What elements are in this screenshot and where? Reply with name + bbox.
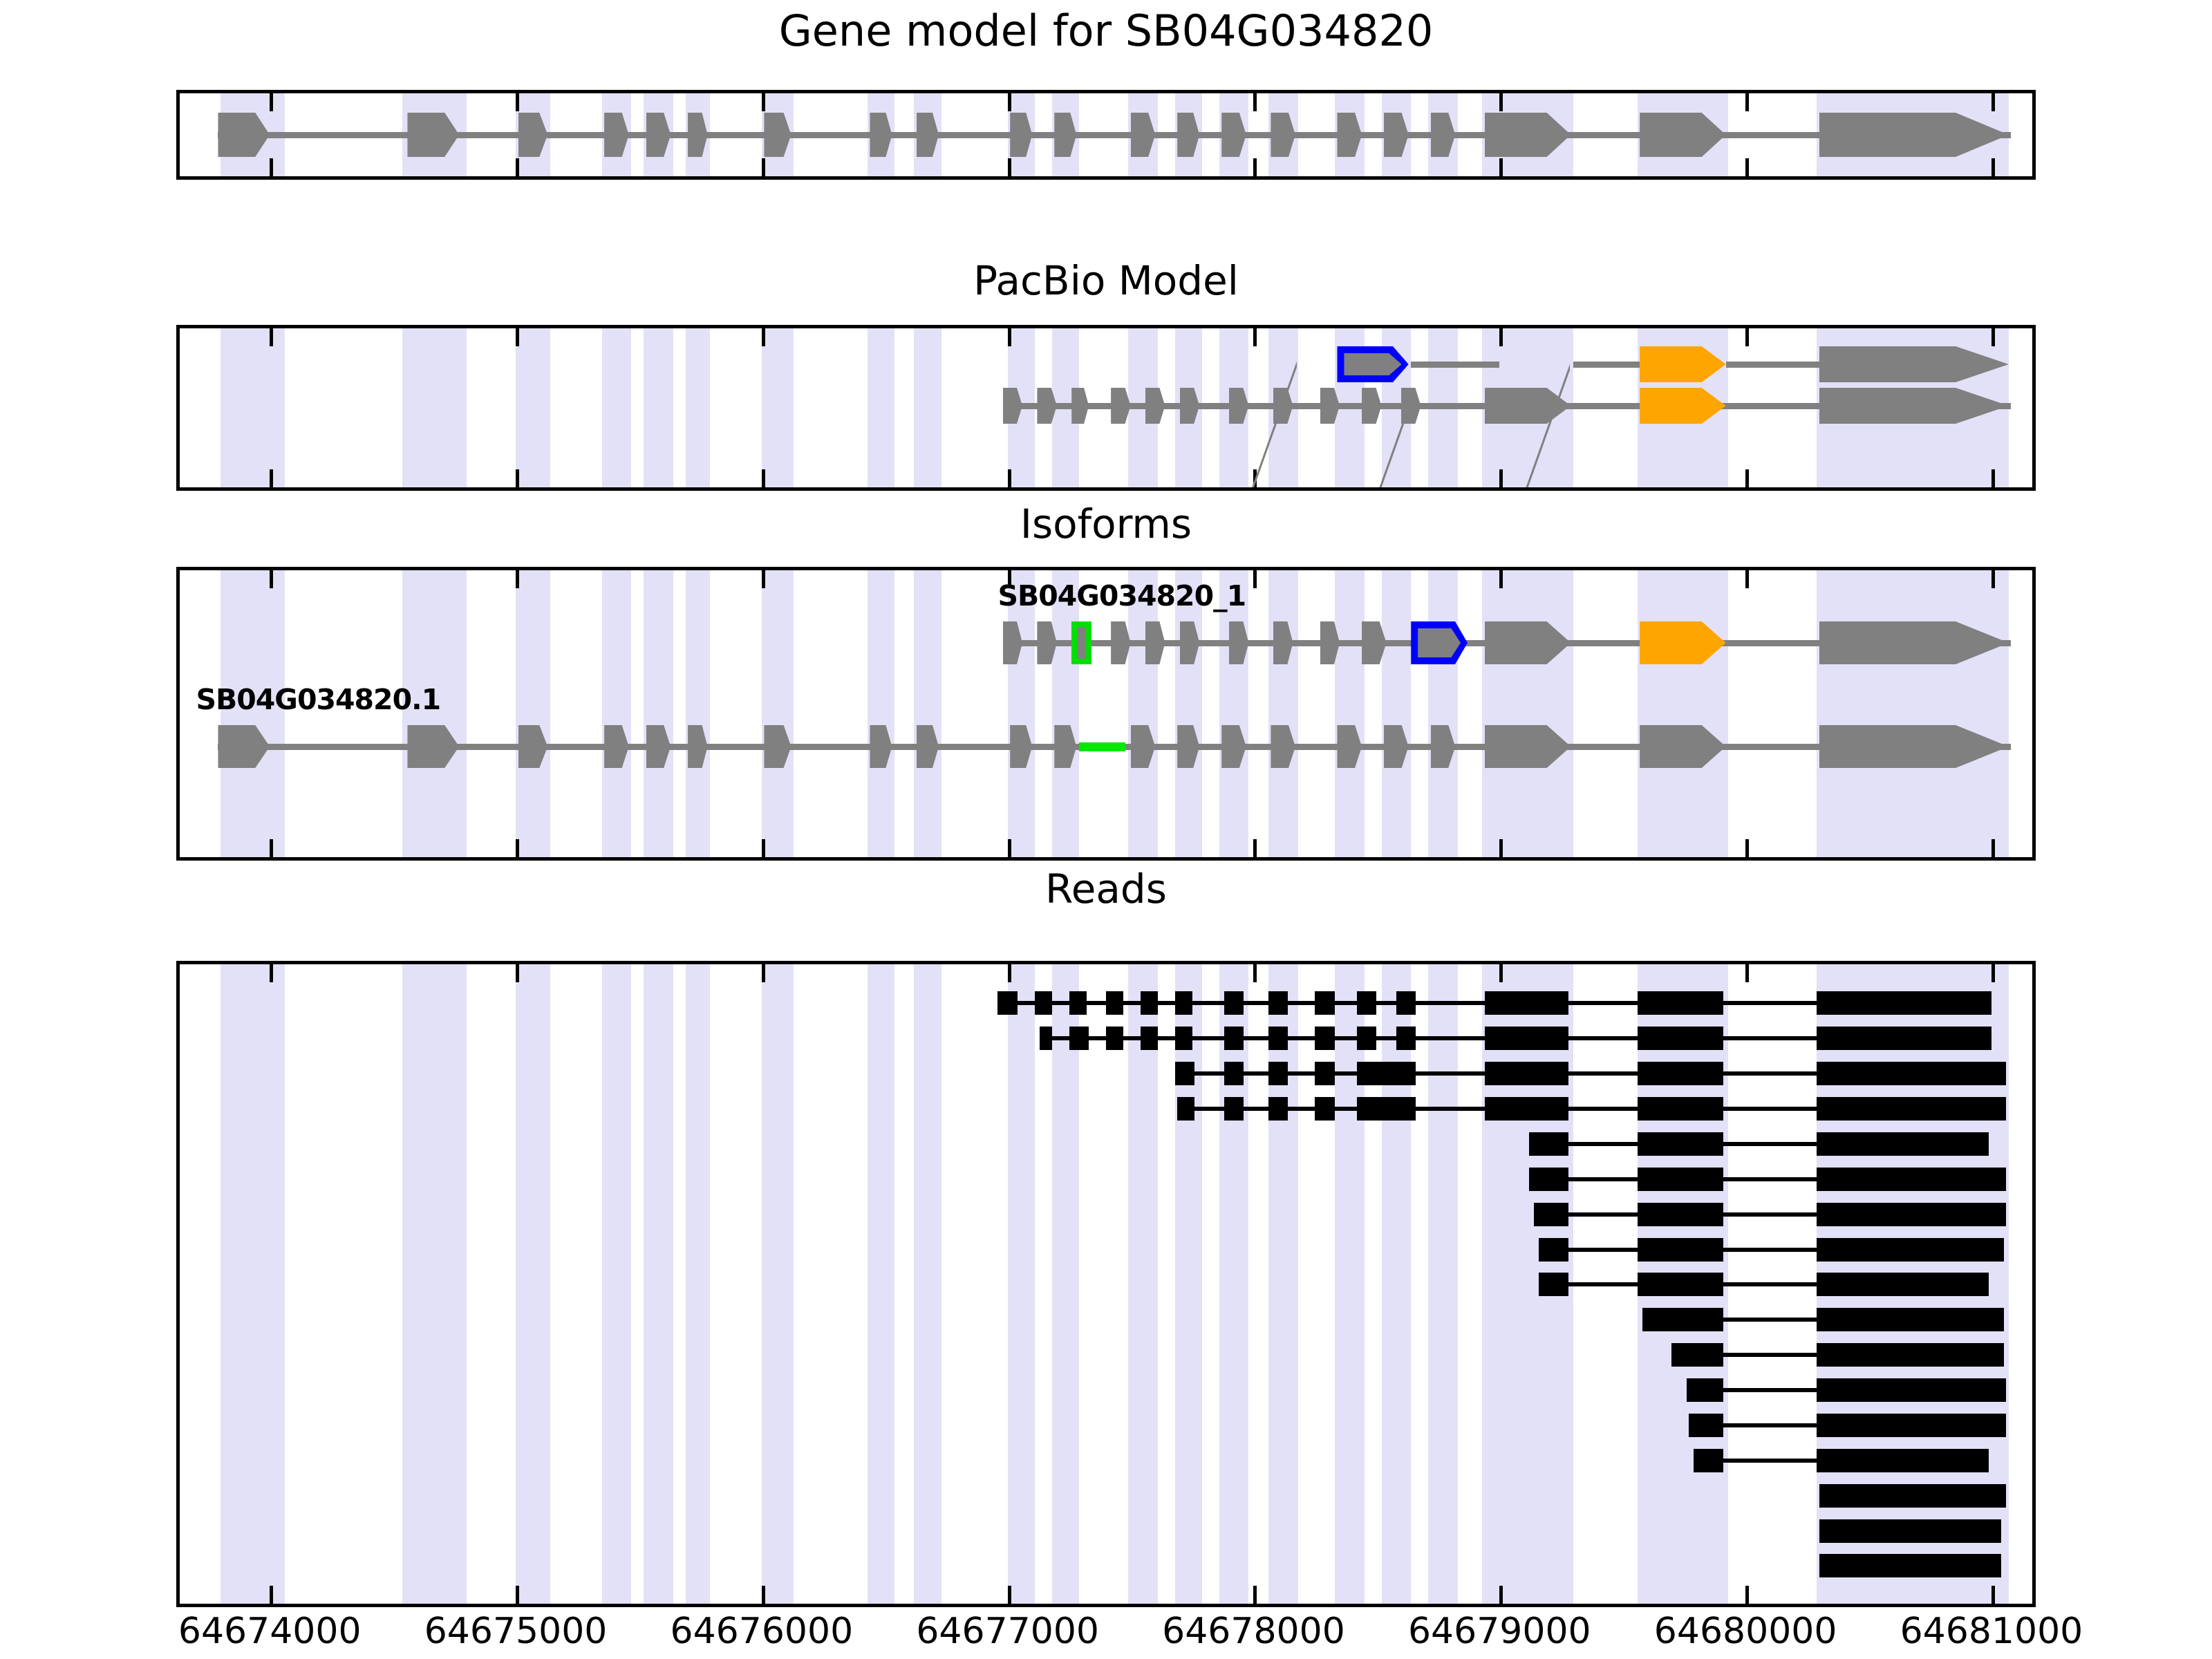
read-block[interactable] bbox=[1357, 1062, 1416, 1085]
axis-tick bbox=[270, 93, 273, 111]
highlight-band bbox=[644, 964, 673, 1604]
read-block[interactable] bbox=[1694, 1449, 1723, 1472]
axis-tick bbox=[1008, 839, 1011, 857]
axis-tick bbox=[1991, 1586, 1995, 1604]
x-tick-label: 64677000 bbox=[870, 1611, 1146, 1652]
read-block[interactable] bbox=[1106, 991, 1123, 1015]
axis-tick bbox=[1745, 93, 1749, 111]
read-block[interactable] bbox=[1638, 991, 1724, 1015]
read-block[interactable] bbox=[1638, 1273, 1724, 1296]
read-block[interactable] bbox=[1315, 1062, 1334, 1085]
highlight-band bbox=[1128, 570, 1158, 857]
read-block[interactable] bbox=[1141, 1027, 1158, 1050]
read-block[interactable] bbox=[1671, 1343, 1723, 1367]
x-tick-label: 64679000 bbox=[1361, 1611, 1638, 1652]
read-block[interactable] bbox=[1638, 1097, 1724, 1121]
x-tick-label: 64675000 bbox=[377, 1611, 654, 1652]
highlight-band bbox=[686, 964, 711, 1604]
axis-tick bbox=[762, 328, 765, 346]
highlight-band bbox=[644, 570, 673, 857]
axis-tick bbox=[1745, 570, 1749, 588]
axis-tick bbox=[1991, 93, 1995, 111]
highlight-band bbox=[914, 964, 941, 1604]
read-block[interactable] bbox=[1817, 1027, 1991, 1050]
axis-tick bbox=[1991, 158, 1995, 176]
axis-tick bbox=[762, 93, 765, 111]
read-block[interactable] bbox=[1485, 1097, 1568, 1121]
highlight-band bbox=[1128, 964, 1158, 1604]
highlight-band bbox=[762, 964, 794, 1604]
highlight-band bbox=[1382, 964, 1412, 1604]
axis-tick bbox=[1499, 570, 1503, 588]
read-block[interactable] bbox=[1224, 1062, 1244, 1085]
highlight-band bbox=[1008, 964, 1035, 1604]
read-block[interactable] bbox=[1315, 991, 1334, 1015]
highlight-band bbox=[1428, 964, 1458, 1604]
axis-tick bbox=[762, 964, 765, 982]
axis-tick bbox=[516, 328, 519, 346]
axis-tick bbox=[270, 839, 273, 857]
read-block[interactable] bbox=[1177, 1097, 1194, 1121]
highlight-band bbox=[686, 570, 711, 857]
highlight-band bbox=[1219, 570, 1249, 857]
read-block[interactable] bbox=[1638, 1062, 1724, 1085]
axis-tick bbox=[1745, 469, 1749, 487]
read-block[interactable] bbox=[1175, 1027, 1192, 1050]
read-block[interactable] bbox=[1224, 1097, 1244, 1121]
read-block[interactable] bbox=[1357, 1027, 1376, 1050]
read-block[interactable] bbox=[1069, 991, 1087, 1015]
highlight-band bbox=[1428, 570, 1458, 857]
axis-tick bbox=[1008, 328, 1011, 346]
read-block[interactable] bbox=[1817, 1097, 2006, 1121]
x-tick-label: 64681000 bbox=[1853, 1611, 2130, 1652]
axis-tick bbox=[270, 1586, 273, 1604]
highlight-band bbox=[762, 570, 794, 857]
highlight-band bbox=[1638, 570, 1729, 857]
axis-tick bbox=[1499, 158, 1503, 176]
exon[interactable] bbox=[1145, 621, 1165, 664]
highlight-band bbox=[1052, 570, 1079, 857]
read-block[interactable] bbox=[1396, 991, 1416, 1015]
read-block[interactable] bbox=[1534, 1203, 1568, 1226]
read-block[interactable] bbox=[1819, 1484, 2006, 1508]
read-block[interactable] bbox=[1529, 1132, 1568, 1156]
axis-tick bbox=[270, 964, 273, 982]
axis-tick bbox=[1499, 93, 1503, 111]
highlight-band bbox=[1008, 570, 1035, 857]
read-block[interactable] bbox=[1817, 1308, 2003, 1331]
axis-tick bbox=[1991, 328, 1995, 346]
read-block[interactable] bbox=[1817, 1273, 1989, 1296]
read-block[interactable] bbox=[1040, 1027, 1052, 1050]
read-block[interactable] bbox=[1485, 1062, 1568, 1085]
read-block[interactable] bbox=[1638, 1238, 1724, 1262]
read-block[interactable] bbox=[1315, 1097, 1334, 1121]
axis-tick bbox=[1008, 964, 1011, 982]
figure-title: Gene model for SB04G034820 bbox=[0, 6, 2212, 56]
gene-model-panel bbox=[176, 90, 2036, 180]
axis-tick bbox=[516, 1586, 519, 1604]
read-block[interactable] bbox=[1268, 1027, 1288, 1050]
read-block[interactable] bbox=[1485, 991, 1568, 1015]
x-tick-label: 64678000 bbox=[1115, 1611, 1391, 1652]
axis-tick bbox=[762, 1586, 765, 1604]
read-block[interactable] bbox=[1817, 1449, 1989, 1472]
intron bbox=[1573, 362, 1640, 368]
read-block[interactable] bbox=[1396, 1027, 1416, 1050]
read-block[interactable] bbox=[1175, 1062, 1194, 1085]
isoform-label-top: SB04G034820_1 bbox=[997, 579, 1246, 612]
axis-tick bbox=[1745, 1586, 1749, 1604]
axis-tick bbox=[1253, 839, 1257, 857]
genome-browser-figure: Gene model for SB04G034820 PacBio Model … bbox=[0, 0, 2212, 1659]
intron bbox=[218, 132, 2011, 138]
x-tick-label: 64674000 bbox=[131, 1611, 408, 1652]
axis-tick bbox=[270, 158, 273, 176]
highlight-band bbox=[1175, 570, 1202, 857]
read-block[interactable] bbox=[1817, 1168, 2006, 1191]
read-block[interactable] bbox=[1315, 1027, 1334, 1050]
read-block[interactable] bbox=[1035, 991, 1052, 1015]
axis-tick bbox=[1253, 1586, 1257, 1604]
axis-tick bbox=[516, 93, 519, 111]
axis-tick bbox=[1008, 1586, 1011, 1604]
axis-tick bbox=[1745, 964, 1749, 982]
highlight-band bbox=[1335, 964, 1365, 1604]
isoforms-panel-title: Isoforms bbox=[0, 500, 2212, 547]
isoform-label-bottom: SB04G034820.1 bbox=[196, 683, 440, 716]
highlight-band bbox=[602, 964, 632, 1604]
axis-tick bbox=[1991, 839, 1995, 857]
highlight-band bbox=[602, 570, 632, 857]
highlight-band bbox=[1175, 964, 1202, 1604]
read-block[interactable] bbox=[1642, 1308, 1723, 1331]
axis-tick bbox=[270, 570, 273, 588]
axis-tick bbox=[762, 570, 765, 588]
intron bbox=[1726, 362, 1819, 368]
read-block[interactable] bbox=[1539, 1238, 1568, 1262]
axis-tick bbox=[1499, 964, 1503, 982]
axis-tick bbox=[1253, 570, 1257, 588]
read-block[interactable] bbox=[1175, 991, 1192, 1015]
read-block[interactable] bbox=[1069, 1027, 1089, 1050]
highlight-band bbox=[516, 570, 550, 857]
axis-tick bbox=[1991, 570, 1995, 588]
highlight-band bbox=[516, 964, 550, 1604]
read-block[interactable] bbox=[997, 991, 1017, 1015]
axis-tick bbox=[1253, 93, 1257, 111]
x-tick-label: 64680000 bbox=[1607, 1611, 1884, 1652]
axis-tick bbox=[516, 570, 519, 588]
read-block[interactable] bbox=[1224, 1027, 1244, 1050]
axis-tick bbox=[1253, 964, 1257, 982]
read-block[interactable] bbox=[1357, 1097, 1416, 1121]
read-block[interactable] bbox=[1357, 991, 1376, 1015]
axis-tick bbox=[762, 158, 765, 176]
splice-connector bbox=[176, 364, 1571, 491]
axis-tick bbox=[1008, 93, 1011, 111]
read-block[interactable] bbox=[1638, 1203, 1724, 1226]
read-block[interactable] bbox=[1268, 1062, 1288, 1085]
isoforms-panel: SB04G034820_1SB04G034820.1 bbox=[176, 567, 2036, 861]
read-block[interactable] bbox=[1529, 1168, 1568, 1191]
highlight-band bbox=[1268, 964, 1298, 1604]
axis-tick bbox=[1745, 158, 1749, 176]
highlight-band bbox=[868, 964, 894, 1604]
read-block[interactable] bbox=[1638, 1027, 1724, 1050]
reads-panel bbox=[176, 961, 2036, 1607]
axis-tick bbox=[516, 839, 519, 857]
read-block[interactable] bbox=[1817, 1238, 2003, 1262]
axis-tick bbox=[516, 158, 519, 176]
axis-tick bbox=[516, 964, 519, 982]
highlight-band bbox=[1335, 570, 1365, 857]
axis-tick bbox=[1499, 839, 1503, 857]
read-block[interactable] bbox=[1224, 991, 1244, 1015]
read-block[interactable] bbox=[1817, 991, 1991, 1015]
axis-tick bbox=[1253, 158, 1257, 176]
axis-tick bbox=[270, 328, 273, 346]
highlight-band bbox=[1052, 964, 1079, 1604]
axis-tick bbox=[1499, 328, 1503, 346]
read-block[interactable] bbox=[1817, 1062, 2006, 1085]
highlight-band bbox=[1482, 570, 1573, 857]
read-block[interactable] bbox=[1141, 991, 1158, 1015]
exon-outlined[interactable] bbox=[1411, 621, 1468, 664]
read-block[interactable] bbox=[1689, 1414, 1723, 1437]
read-block[interactable] bbox=[1539, 1273, 1568, 1296]
pacbio-model-panel bbox=[176, 325, 2036, 491]
axis-tick bbox=[1745, 328, 1749, 346]
highlight-band bbox=[221, 964, 285, 1604]
highlight-band bbox=[1382, 570, 1412, 857]
highlight-band bbox=[402, 964, 467, 1604]
read-block[interactable] bbox=[1817, 1343, 2003, 1367]
x-tick-label: 64676000 bbox=[624, 1611, 900, 1652]
read-block[interactable] bbox=[1106, 1027, 1123, 1050]
read-block[interactable] bbox=[1687, 1378, 1723, 1402]
read-block[interactable] bbox=[1817, 1203, 2006, 1226]
read-block[interactable] bbox=[1268, 991, 1288, 1015]
read-block[interactable] bbox=[1817, 1378, 2006, 1402]
highlight-band bbox=[868, 570, 894, 857]
axis-tick bbox=[1991, 469, 1995, 487]
axis-tick bbox=[762, 839, 765, 857]
exon-outlined[interactable] bbox=[1071, 621, 1091, 664]
read-block[interactable] bbox=[1268, 1097, 1288, 1121]
axis-tick bbox=[1745, 839, 1749, 857]
axis-tick bbox=[1991, 964, 1995, 982]
axis-tick bbox=[1499, 1586, 1503, 1604]
read-block[interactable] bbox=[1819, 1554, 2001, 1577]
highlight-band bbox=[1817, 570, 2009, 857]
intron bbox=[1079, 742, 1126, 751]
read-block[interactable] bbox=[1817, 1132, 1989, 1156]
read-block[interactable] bbox=[1485, 1027, 1568, 1050]
read-block[interactable] bbox=[1638, 1168, 1724, 1191]
axis-tick bbox=[1253, 328, 1257, 346]
axis-tick bbox=[1008, 158, 1011, 176]
highlight-band bbox=[1268, 570, 1298, 857]
read-block[interactable] bbox=[1638, 1132, 1724, 1156]
reads-panel-title: Reads bbox=[0, 865, 2212, 912]
read-block[interactable] bbox=[1819, 1519, 2001, 1543]
highlight-band bbox=[914, 570, 941, 857]
read-block[interactable] bbox=[1817, 1414, 2006, 1437]
pacbio-panel-title: PacBio Model bbox=[0, 257, 2212, 304]
highlight-band bbox=[1219, 964, 1249, 1604]
